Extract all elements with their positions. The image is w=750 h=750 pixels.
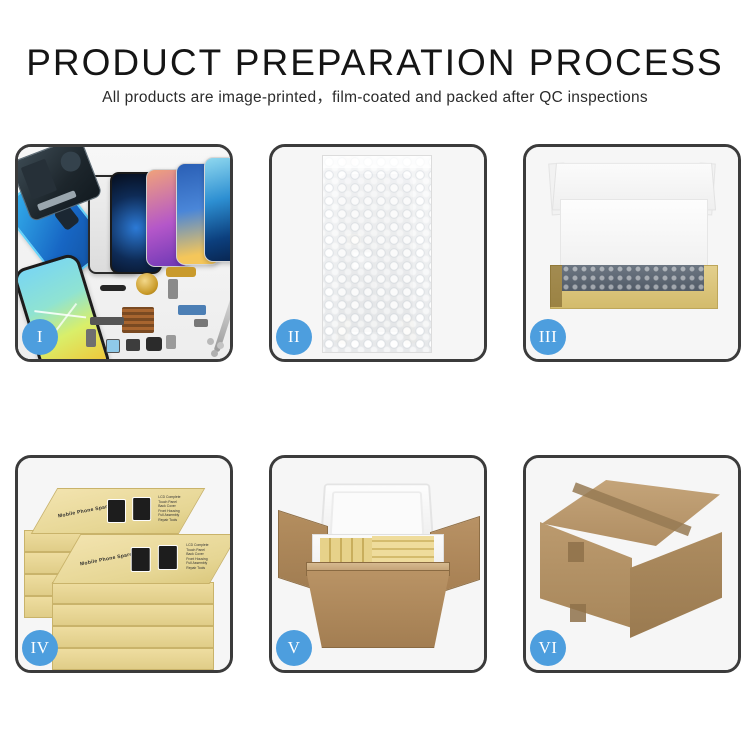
page-subtitle: All products are image-printed，film-coat… — [0, 88, 750, 108]
foam-sheet — [560, 199, 708, 273]
page-title: PRODUCT PREPARATION PROCESS — [0, 42, 750, 84]
part-button-cap — [146, 337, 162, 351]
process-step-6[interactable]: VI — [523, 455, 741, 673]
part-chip-grid — [122, 307, 154, 333]
part-bracket — [168, 279, 178, 299]
carton-tape-tab-upper — [568, 542, 584, 562]
phone-teal-display — [204, 157, 230, 262]
bubble-bag — [322, 155, 432, 353]
box-stack: Mobile Phone Spare Parts LCD Complete To… — [22, 482, 226, 658]
step-badge-5: V — [276, 630, 312, 666]
bag-seal — [323, 156, 431, 168]
process-step-1[interactable]: I — [15, 144, 233, 362]
part-sim-tray — [166, 335, 176, 349]
step-badge-1: I — [22, 319, 58, 355]
part-blue-flex — [178, 305, 206, 315]
stack-layer — [52, 582, 214, 604]
step-badge-2: II — [276, 319, 312, 355]
stack-layer — [52, 648, 214, 670]
part-gold-coil — [136, 273, 158, 295]
retail-box-top-back: Mobile Phone Spare Parts LCD Complete To… — [31, 488, 206, 534]
part-shield-plate — [194, 319, 208, 327]
step-badge-3: III — [530, 319, 566, 355]
carton-side-face — [630, 532, 722, 638]
box-inner-shadow — [550, 265, 562, 307]
box-thumb-image — [158, 545, 178, 570]
screws — [207, 338, 214, 345]
part-ribbon-cable — [90, 317, 124, 325]
bubble-wrap-fill — [562, 265, 704, 291]
retail-box-bullets: LCD Complete Touch Panel Back Cover Fron… — [158, 495, 180, 523]
box-thumb-image — [131, 547, 151, 572]
bubble-wrap-texture — [323, 156, 431, 352]
carton-tape-tab-lower — [570, 604, 586, 622]
part-gold-flex — [166, 267, 196, 277]
process-grid: I II — [15, 144, 735, 675]
stack-layer — [52, 604, 214, 626]
step-badge-6: VI — [530, 630, 566, 666]
infographic-root: PRODUCT PREPARATION PROCESS All products… — [0, 0, 750, 750]
part-camera-module — [106, 339, 120, 353]
part-speaker — [100, 285, 126, 291]
box-thumb-image — [107, 499, 126, 523]
retail-box-top-front: Mobile Phone Spare Parts LCD Complete To… — [52, 534, 230, 584]
part-connector — [86, 329, 96, 347]
carton-body — [306, 570, 450, 648]
process-step-2[interactable]: II — [269, 144, 487, 362]
process-step-4[interactable]: Mobile Phone Spare Parts LCD Complete To… — [15, 455, 233, 673]
process-step-5[interactable]: V — [269, 455, 487, 673]
stack-layer — [52, 626, 214, 648]
step-badge-4: IV — [22, 630, 58, 666]
part-ic-chip — [126, 339, 140, 351]
box-thumb-image — [132, 497, 151, 521]
retail-box-bullets: LCD Complete Touch Panel Back Cover Fron… — [186, 543, 208, 571]
process-step-3[interactable]: III — [523, 144, 741, 362]
